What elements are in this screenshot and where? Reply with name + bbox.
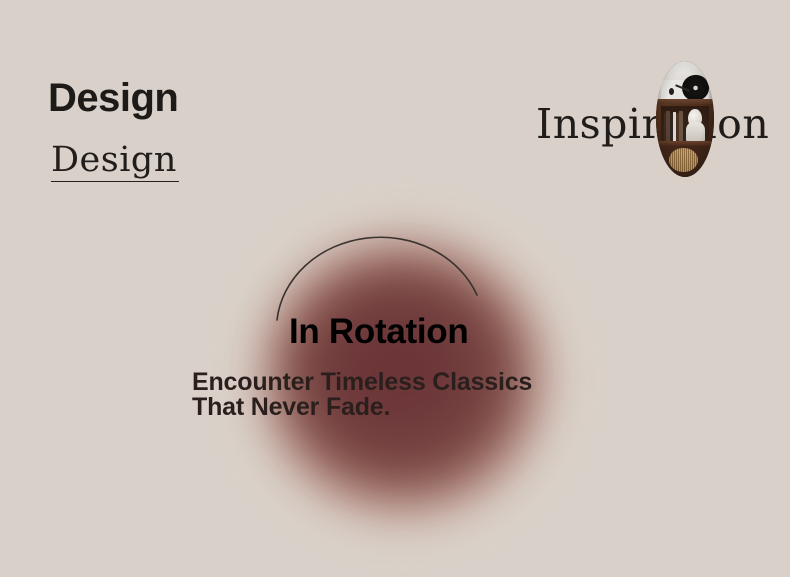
inspiration-heading: Inspiration bbox=[536, 100, 769, 148]
design-serif-block: Design bbox=[51, 140, 181, 182]
photo-vignette bbox=[656, 61, 714, 177]
hero-title: In Rotation bbox=[289, 312, 468, 352]
oval-shelf-photo bbox=[656, 61, 714, 177]
hero-subtitle-line-2: That Never Fade. bbox=[192, 395, 532, 420]
design-serif-underline bbox=[51, 181, 179, 182]
hero-subtitle: Encounter Timeless Classics That Never F… bbox=[192, 370, 532, 420]
design-serif-heading: Design bbox=[51, 140, 181, 180]
design-bold-heading: Design bbox=[48, 76, 178, 121]
hero-subtitle-line-1: Encounter Timeless Classics bbox=[192, 370, 532, 395]
poster-canvas: Design Design Inspiration In Rotation En… bbox=[0, 0, 790, 577]
